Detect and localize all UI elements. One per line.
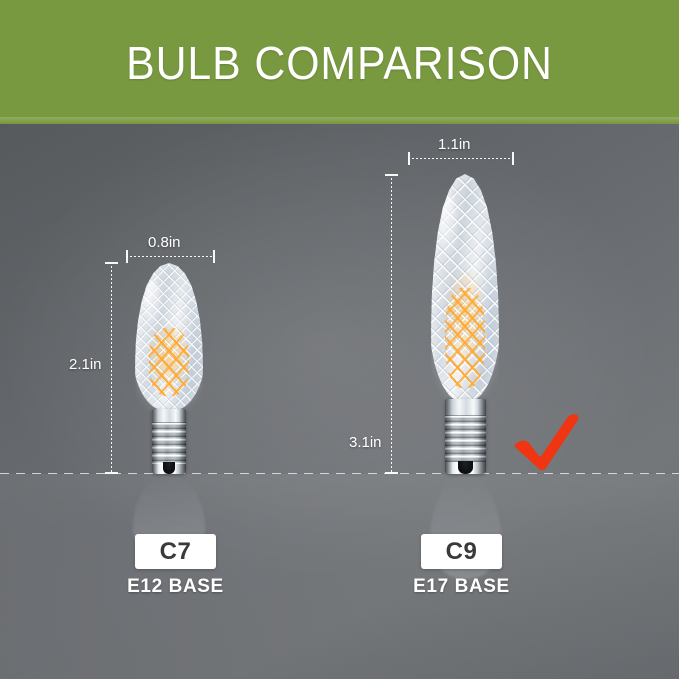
c9-e17-screw-base [445,399,486,474]
c7-width-dimension-label: 0.8in [148,234,181,251]
header-banner: BULB COMPARISON [0,0,679,124]
c7-width-dimension-line [126,256,215,257]
c9-base-shading [445,399,486,474]
c9-height-dimension-label: 3.1in [349,434,382,451]
recommended-checkmark-icon [513,412,581,472]
c7-glass-envelope [133,263,205,411]
c9-width-dimension-label: 1.1in [438,136,471,153]
bulb-c7 [133,263,205,474]
page-title: BULB COMPARISON [24,38,655,88]
c9-highlight [440,195,456,254]
c9-width-dimension-line [408,158,514,159]
c7-filament [149,328,189,396]
c7-height-dimension-line [111,262,112,474]
c9-filament [445,288,485,388]
c9-height-dimension-line [391,174,392,474]
baseline-dashed-line [0,473,679,474]
c7-label-chip: C7 [135,534,216,569]
product-photo: 0.8in 2.1in 1.1in 3.1in C7 E12 BASE C9 E… [0,124,679,679]
bulb-c9 [429,174,501,474]
c9-glass-envelope [429,174,501,402]
floor-reflection-surface [0,474,679,679]
c7-base-label: E12 BASE [110,576,241,598]
c7-height-dimension-label: 2.1in [69,356,102,373]
c7-e12-screw-base [152,409,186,474]
c9-base-label: E17 BASE [396,576,527,598]
c7-base-shading [152,409,186,474]
c9-label-chip: C9 [421,534,502,569]
bulb-comparison-image: BULB COMPARISON [0,0,679,679]
